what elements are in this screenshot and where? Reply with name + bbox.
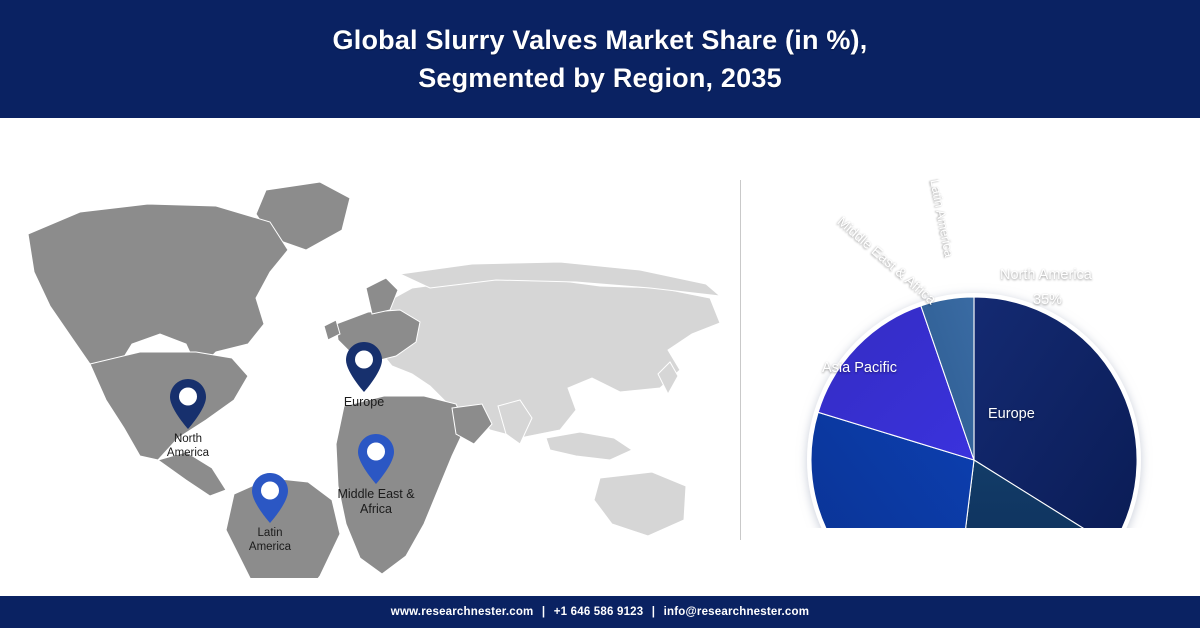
location-pin-icon [169,378,207,430]
map-pin-label-north-america: North America [118,432,258,460]
vertical-divider [740,180,741,540]
page-title: Global Slurry Valves Market Share (in %)… [333,21,868,98]
pie-slices [811,297,1137,528]
pie-label-asia-pacific: Asia Pacific [822,360,897,376]
footer-contact-line: www.researchnester.com | +1 646 586 9123… [391,606,809,618]
pie-label-north-america: North America [1000,267,1092,283]
infographic-page: Global Slurry Valves Market Share (in %)… [0,0,1200,628]
content-area: North America Europe Middle East & Afric… [0,118,1200,596]
market-share-pie-chart [760,128,1190,528]
location-pin-icon [251,472,289,524]
title-line-1: Global Slurry Valves Market Share (in %)… [333,25,868,55]
map-pin-label-europe: Europe [294,395,434,410]
location-pin-icon [345,341,383,393]
footer-separator-1: | [537,606,550,618]
header-banner: Global Slurry Valves Market Share (in %)… [0,0,1200,118]
title-line-2: Segmented by Region, 2035 [333,59,868,97]
footer-email[interactable]: info@researchnester.com [664,606,810,618]
footer-bar: www.researchnester.com | +1 646 586 9123… [0,596,1200,628]
pie-chart-panel: North America 35% Europe Asia Pacific Mi… [760,128,1190,528]
world-map-panel: North America Europe Middle East & Afric… [20,138,730,578]
pie-label-europe: Europe [988,406,1035,422]
footer-separator-2: | [647,606,660,618]
map-pin-label-latin-america: Latin America [200,526,340,554]
footer-website[interactable]: www.researchnester.com [391,606,534,618]
location-pin-icon [357,433,395,485]
pie-value-north-america: 35% [1033,292,1062,308]
footer-phone[interactable]: +1 646 586 9123 [554,606,644,618]
map-pin-label-middle-east-africa: Middle East & Africa [306,487,446,518]
